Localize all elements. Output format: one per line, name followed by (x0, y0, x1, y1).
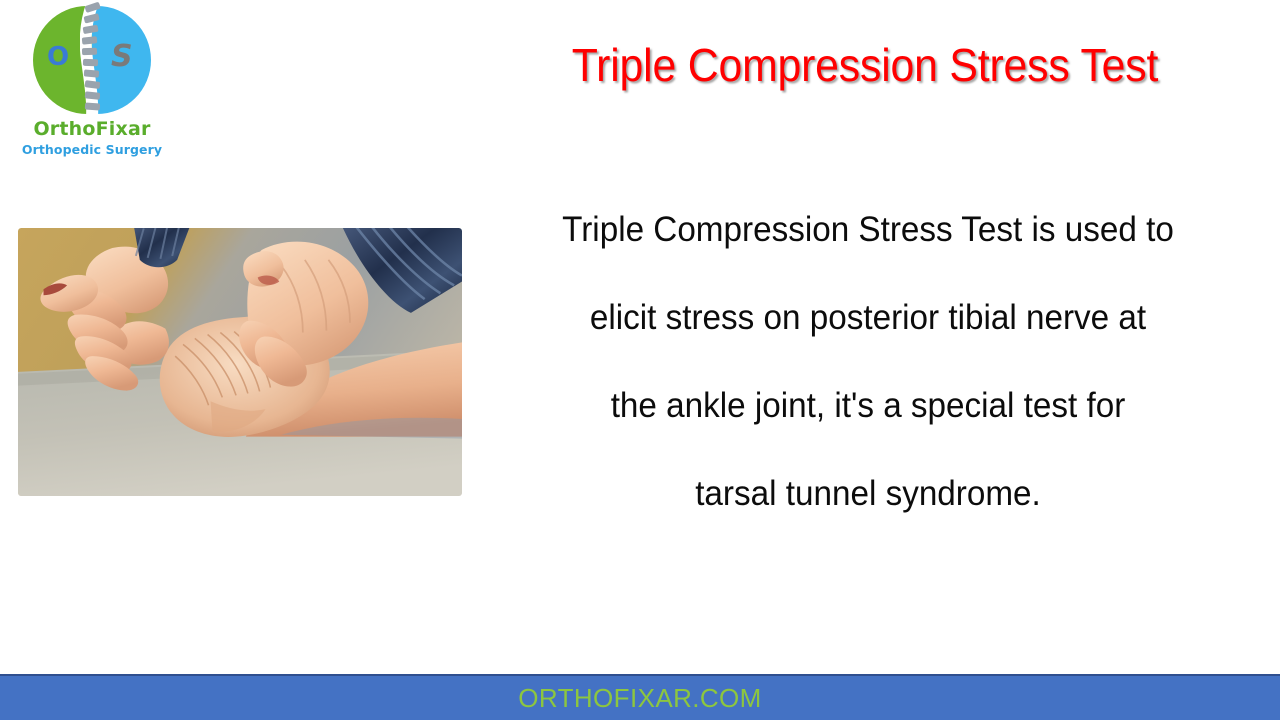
body-paragraph: Triple Compression Stress Test is used t… (488, 186, 1248, 538)
page-title: Triple Compression Stress Test (498, 38, 1233, 92)
slide-canvas: O S OrthoFixar Orthopedic Surgery Triple… (0, 0, 1280, 720)
body-line: Triple Compression Stress Test is used t… (488, 186, 1248, 274)
body-line: elicit stress on posterior tibial nerve … (488, 274, 1248, 362)
orthofixar-logo-icon: O S (33, 6, 151, 114)
brand-subtitle: Orthopedic Surgery (12, 142, 172, 157)
clinical-photo (14, 224, 466, 500)
spine-icon (80, 2, 106, 118)
logo-monogram-o-icon: O (47, 44, 69, 70)
clinical-photo-frame (18, 228, 462, 496)
footer-bar: ORTHOFIXAR.COM (0, 674, 1280, 720)
brand-logo-block[interactable]: O S OrthoFixar Orthopedic Surgery (12, 4, 172, 164)
brand-name: OrthoFixar (12, 118, 172, 140)
ankle-compression-photo-illustration (18, 228, 462, 496)
body-line: tarsal tunnel syndrome. (488, 450, 1248, 538)
footer-website-label[interactable]: ORTHOFIXAR.COM (518, 683, 761, 714)
body-line: the ankle joint, it's a special test for (488, 362, 1248, 450)
logo-monogram-s-icon: S (111, 42, 133, 72)
